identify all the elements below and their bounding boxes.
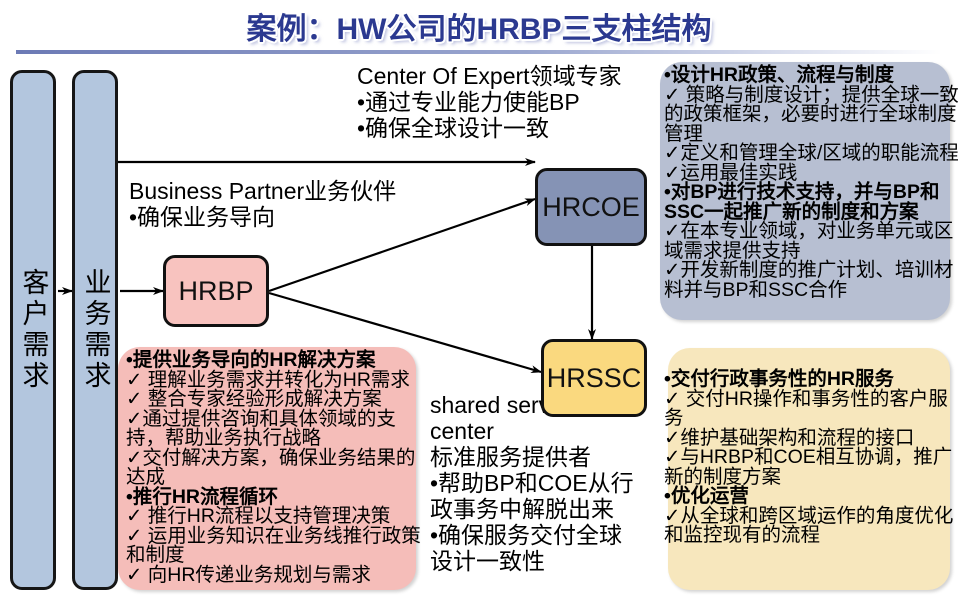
panel-item: ✓ 向HR传递业务规划与需求 [126,566,428,586]
hrbp-responsibilities-text: •提供业务导向的HR解决方案 ✓ 理解业务需求并转化为HR需求 ✓ 整合专家经验… [126,351,428,585]
hrssc-responsibilities-text: •交付行政事务性的HR服务 ✓ 交付HR操作和事务性的客户服务 ✓维护基础架构和… [664,370,958,546]
business-demand-bar: 业务需求 [72,70,118,590]
panel-item: ✓ 整合专家经验形成解决方案 [126,390,428,410]
customer-demand-label: 客户需求 [13,73,53,587]
panel-item: ✓定义和管理全球/区域的职能流程 [664,144,958,164]
hrbp-responsibilities-panel: •提供业务导向的HR解决方案 ✓ 理解业务需求并转化为HR需求 ✓ 整合专家经验… [118,347,416,590]
coe-caption: Center Of Expert领域专家 •通过专业能力使能BP •确保全球设计… [357,63,622,141]
title-divider [16,50,942,54]
hrcoe-node-label: HRCOE [542,192,640,223]
ssc-caption: shared service center 标准服务提供者 •帮助BP和COE从… [430,392,634,574]
panel-item: ✓ 推行HR流程以支持管理决策 [126,507,428,527]
panel-item: ✓与HRBP和COE相互协调，推广新的制度方案 [664,448,958,487]
panel-heading: •设计HR政策、流程与制度 [664,66,958,86]
hrcoe-responsibilities-text: •设计HR政策、流程与制度 ✓ 策略与制度设计；提供全球一致的政策框架，必要时进… [664,66,958,300]
hrssc-responsibilities-panel: •交付行政事务性的HR服务 ✓ 交付HR操作和事务性的客户服务 ✓维护基础架构和… [668,348,950,590]
panel-item: ✓交付解决方案，确保业务结果的达成 [126,449,428,488]
panel-heading: •交付行政事务性的HR服务 [664,370,958,390]
panel-item: ✓开发新制度的推广计划、培训材料并与BP和SSC合作 [664,261,958,300]
panel-heading: •对BP进行技术支持，并与BP和SSC一起推广新的制度和方案 [664,183,958,222]
business-demand-label: 业务需求 [75,73,115,587]
hrcoe-node[interactable]: HRCOE [535,168,647,246]
panel-heading: •优化运营 [664,487,958,507]
panel-item: ✓通过提供咨询和具体领域的支持，帮助业务执行战略 [126,410,428,449]
hrbp-node[interactable]: HRBP [163,255,269,327]
panel-item: ✓在本专业领域，对业务单元或区域需求提供支持 [664,222,958,261]
panel-item: ✓ 运用业务知识在业务线推行政策和制度 [126,527,428,566]
hrcoe-responsibilities-panel: •设计HR政策、流程与制度 ✓ 策略与制度设计；提供全球一致的政策框架，必要时进… [660,62,950,320]
panel-heading: •提供业务导向的HR解决方案 [126,351,428,371]
page-title: 案例：HW公司的HRBP三支柱结构 [0,4,958,48]
panel-item: ✓从全球和跨区域运作的角度优化和监控现有的流程 [664,507,958,546]
slide-canvas: 案例：HW公司的HRBP三支柱结构 客户需求 业务需求 Center Of Ex… [0,0,958,596]
hrssc-node[interactable]: HRSSC [541,339,647,417]
hrssc-node-label: HRSSC [547,363,642,394]
panel-item: ✓ 策略与制度设计；提供全球一致的政策框架，必要时进行全球制度管理 [664,86,958,145]
customer-demand-bar: 客户需求 [10,70,56,590]
bp-caption: Business Partner业务伙伴 •确保业务导向 [129,178,396,230]
hrbp-node-label: HRBP [178,276,253,307]
panel-item: ✓ 交付HR操作和事务性的客户服务 [664,390,958,429]
